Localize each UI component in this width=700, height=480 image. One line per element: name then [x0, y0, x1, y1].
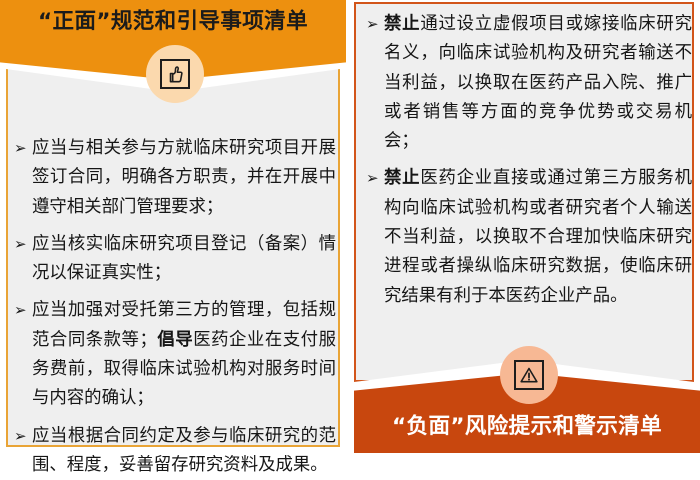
bullet-arrow-icon: ➢ — [366, 10, 379, 39]
negative-bullet-list: ➢禁止通过设立虚假项目或嫁接临床研究名义，向临床试验机构及研究者输送不当利益，以… — [366, 10, 692, 311]
list-item: ➢应当核实临床研究项目登记（备案）情况以保证真实性； — [14, 230, 336, 289]
negative-panel-title: “负面”风险提示和警示清单 — [354, 412, 700, 442]
list-item: ➢应当根据合同约定及参与临床研究的范围、程度，妥善留存研究资料及成果。 — [14, 422, 336, 480]
list-item-text: 应当加强对受托第三方的管理，包括规范合同条款等；倡导医药企业在支付服务费前，取得… — [32, 300, 336, 408]
list-item: ➢禁止通过设立虚假项目或嫁接临床研究名义，向临床试验机构及研究者输送不当利益，以… — [366, 10, 692, 156]
list-item-text: 禁止医药企业直接或通过第三方服务机构向临床试验机构或者研究者个人输送不当利益，以… — [384, 168, 692, 305]
thumbs-up-icon — [146, 45, 204, 103]
positive-panel-title: “正面”规范和引导事项清单 — [0, 7, 346, 37]
list-item-text: 应当核实临床研究项目登记（备案）情况以保证真实性； — [32, 234, 336, 283]
list-item-text: 禁止通过设立虚假项目或嫁接临床研究名义，向临床试验机构及研究者输送不当利益，以换… — [384, 14, 692, 151]
list-item: ➢应当加强对受托第三方的管理，包括规范合同条款等；倡导医药企业在支付服务费前，取… — [14, 296, 336, 413]
bullet-arrow-icon: ➢ — [366, 164, 379, 193]
list-item: ➢应当与相关参与方就临床研究项目开展签订合同，明确各方职责，并在开展中遵守相关部… — [14, 134, 336, 222]
bullet-arrow-icon: ➢ — [14, 296, 27, 325]
list-item-text: 应当根据合同约定及参与临床研究的范围、程度，妥善留存研究资料及成果。 — [32, 426, 336, 475]
bullet-arrow-icon: ➢ — [14, 134, 27, 163]
positive-list-panel: “正面”规范和引导事项清单 ➢应当与相关参与方就临床研究项目开展签订合同，明确各… — [0, 0, 346, 453]
warning-triangle-icon — [500, 346, 558, 404]
positive-bullet-list: ➢应当与相关参与方就临床研究项目开展签订合同，明确各方职责，并在开展中遵守相关部… — [14, 134, 336, 480]
bullet-arrow-icon: ➢ — [14, 422, 27, 451]
bullet-arrow-icon: ➢ — [14, 230, 27, 259]
infographic-canvas: “正面”规范和引导事项清单 ➢应当与相关参与方就临床研究项目开展签订合同，明确各… — [0, 0, 700, 453]
thumbs-up-icon-frame — [160, 59, 190, 89]
warning-triangle-icon-frame — [514, 360, 544, 390]
list-item-text: 应当与相关参与方就临床研究项目开展签订合同，明确各方职责，并在开展中遵守相关部门… — [32, 138, 336, 217]
list-item: ➢禁止医药企业直接或通过第三方服务机构向临床试验机构或者研究者个人输送不当利益，… — [366, 164, 692, 310]
